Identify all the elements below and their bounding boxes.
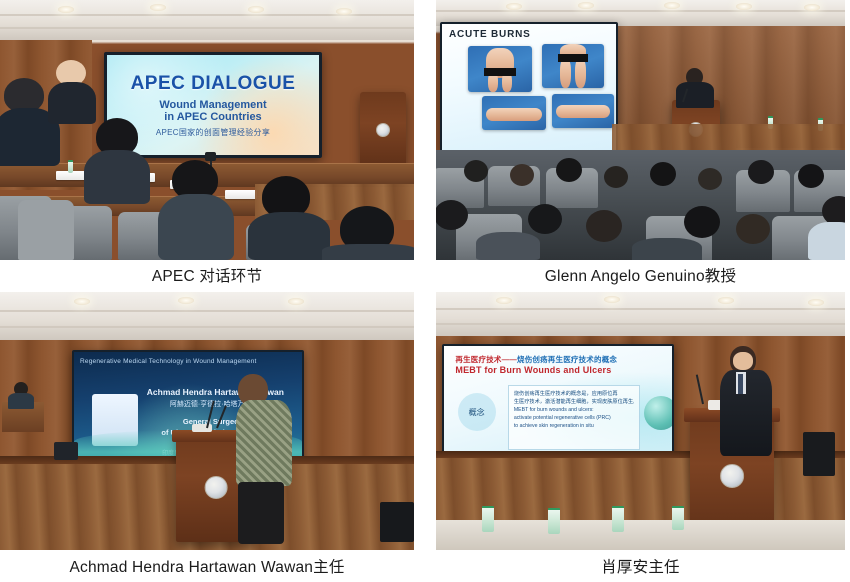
- photo-genuino: ACUTE BURNS: [436, 0, 845, 260]
- podium: [360, 92, 406, 170]
- photo-apec-dialogue: APEC DIALOGUE Wound Management in APEC C…: [0, 0, 414, 260]
- ceiling-light-icon: [718, 297, 734, 304]
- ceiling-line: [436, 308, 845, 310]
- slide-title: APEC DIALOGUE: [131, 73, 296, 95]
- chair-back: [18, 200, 74, 260]
- audience-head: [604, 166, 628, 188]
- ceiling-light-icon: [736, 3, 752, 10]
- camera-icon: [205, 152, 216, 161]
- photo-achmad: Regenerative Medical Technology in Wound…: [0, 292, 414, 550]
- ceiling-light-icon: [178, 297, 194, 304]
- slide-body-en-1: MEBT for burn wounds and ulcers:: [514, 406, 634, 414]
- speaker-body: [720, 370, 772, 456]
- ceiling-line: [0, 14, 414, 16]
- speaker-tie: [738, 374, 743, 394]
- clinical-photo: [482, 96, 546, 130]
- water-bottle: [672, 506, 684, 530]
- ceiling-light-icon: [288, 298, 304, 305]
- slide-subtitle-chinese: APEC国家的创面管理经验分享: [156, 127, 270, 138]
- slide-title-cn-sub: 烧伤创疡再生医疗技术的概念: [517, 355, 617, 364]
- audience-head: [556, 158, 582, 182]
- ceiling-light-icon: [604, 296, 620, 303]
- clinical-photo: [552, 94, 614, 128]
- floor: [612, 124, 845, 152]
- ceiling-light-icon: [150, 4, 166, 11]
- photo-caption-achmad: Achmad Hendra Hartawan Wawan主任: [0, 550, 414, 582]
- clinical-photo: [468, 46, 532, 92]
- ceiling-light-icon: [74, 298, 90, 305]
- audience-head: [528, 204, 562, 234]
- ceiling-light-icon: [496, 297, 512, 304]
- photo-cell-achmad: Regenerative Medical Technology in Wound…: [0, 292, 414, 582]
- photo-xiao: 再生医疗技术——烧伤创疡再生医疗技术的概念 MEBT for Burn Woun…: [436, 292, 845, 550]
- audience-body: [248, 212, 330, 260]
- slide-body-box: 烧伤创疡再生医疗技术的概念是，应用原位再 生医疗技术，激活潜能再生细胞，实现皮肤…: [508, 385, 640, 450]
- audience-body: [476, 232, 540, 260]
- photo-caption-apec-dialogue: APEC 对话环节: [0, 260, 414, 292]
- audience-body: [158, 194, 234, 260]
- speaker-body: [236, 400, 292, 486]
- ceiling-line: [0, 27, 414, 29]
- slide-title-chinese: 再生医疗技术——烧伤创疡再生医疗技术的概念: [455, 354, 617, 365]
- audience-body: [48, 82, 96, 124]
- slide-apec-dialogue: APEC DIALOGUE Wound Management in APEC C…: [107, 55, 319, 155]
- ceiling-light-icon: [578, 2, 594, 9]
- slide-body-en-3: to achieve skin regeneration in situ: [514, 422, 634, 430]
- slide-body-cn-1: 烧伤创疡再生医疗技术的概念是，应用原位再: [514, 390, 634, 398]
- speaker-face: [733, 352, 753, 370]
- water-bottle: [482, 506, 494, 532]
- slide-globe-graphic: [644, 396, 674, 430]
- audience-head: [684, 206, 720, 238]
- ceiling-light-icon: [808, 299, 824, 306]
- ceiling-line: [0, 326, 414, 328]
- slide-body-en-2: activate potential regenerative cells (P…: [514, 414, 634, 422]
- speaker-body: [676, 82, 714, 108]
- slide-title-english: MEBT for Burn Wounds and Ulcers: [455, 365, 611, 375]
- audience-head: [798, 164, 824, 188]
- slide-mebt: 再生医疗技术——烧伤创疡再生医疗技术的概念 MEBT for Burn Woun…: [444, 346, 672, 464]
- slide-acute-burns: ACUTE BURNS: [442, 24, 616, 150]
- ceiling-light-icon: [804, 4, 820, 11]
- projection-screen: ACUTE BURNS: [440, 22, 618, 152]
- loudspeaker: [803, 432, 835, 476]
- ceiling-line: [436, 10, 845, 12]
- photo-caption-xiao: 肖厚安主任: [436, 550, 845, 582]
- audience-head: [510, 164, 534, 186]
- audience-head: [736, 214, 770, 244]
- slide-title: ACUTE BURNS: [449, 29, 531, 40]
- audience-body: [808, 222, 845, 260]
- audience-head: [464, 160, 488, 182]
- water-bottle: [68, 160, 73, 173]
- clinical-photo: [542, 44, 604, 88]
- photo-cell-apec-dialogue: APEC DIALOGUE Wound Management in APEC C…: [0, 0, 414, 292]
- ceiling: [0, 292, 414, 340]
- seated-person-body: [8, 393, 34, 409]
- water-bottle: [612, 506, 624, 532]
- name-plate: [225, 190, 257, 199]
- audience-head: [4, 78, 44, 112]
- slide-subtitle-line2: in APEC Countries: [164, 111, 261, 123]
- photo-caption-genuino: Glenn Angelo Genuino教授: [436, 260, 845, 292]
- audience-head: [650, 162, 676, 186]
- slide-body-cn-2: 生医疗技术，激活潜能再生细胞，实现皮肤原位再生。: [514, 398, 634, 406]
- slide-subtitle-line1: Wound Management: [159, 99, 266, 111]
- projection-screen: 再生医疗技术——烧伤创疡再生医疗技术的概念 MEBT for Burn Woun…: [442, 344, 674, 466]
- ceiling-light-icon: [506, 3, 522, 10]
- ceiling-light-icon: [248, 6, 264, 13]
- loudspeaker: [380, 502, 414, 542]
- photo-cell-genuino: ACUTE BURNS: [436, 0, 845, 292]
- ceiling-line: [0, 310, 414, 312]
- audience-head: [748, 160, 774, 184]
- ceiling-light-icon: [664, 2, 680, 9]
- front-table: [436, 520, 845, 550]
- ceiling-line: [436, 323, 845, 325]
- slide-concept-label: 概念: [458, 393, 496, 431]
- audience-body: [84, 150, 150, 204]
- stage-monitor: [54, 442, 78, 460]
- ceiling-light-icon: [336, 8, 352, 15]
- audience-head: [586, 210, 622, 242]
- slide-header: Regenerative Medical Technology in Wound…: [80, 358, 296, 365]
- photo-cell-xiao: 再生医疗技术——烧伤创疡再生医疗技术的概念 MEBT for Burn Woun…: [436, 292, 845, 582]
- speaker-legs: [238, 482, 284, 544]
- slide-title-cn-main: 再生医疗技术——: [455, 355, 517, 364]
- audience-body: [632, 238, 702, 260]
- baseboard: [436, 451, 845, 458]
- audience-body: [322, 244, 414, 260]
- audience-head: [698, 168, 722, 190]
- podium-plate: [192, 424, 212, 432]
- photo-grid: APEC DIALOGUE Wound Management in APEC C…: [0, 0, 850, 582]
- water-bottle: [548, 508, 560, 534]
- ceiling-light-icon: [58, 6, 74, 13]
